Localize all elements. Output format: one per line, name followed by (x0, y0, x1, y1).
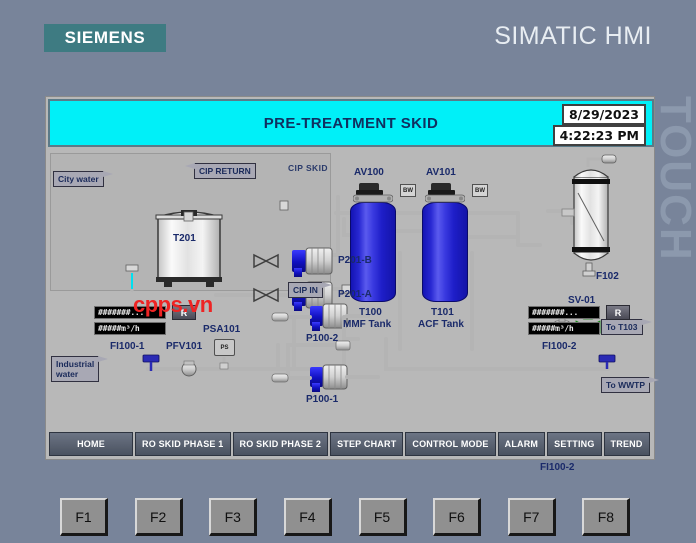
siemens-logo-text: SIEMENS (65, 28, 146, 48)
process-mimic: CIP SKID (48, 149, 654, 432)
function-key-f5[interactable]: F5 (359, 498, 407, 536)
function-key-row: F1 F2 F3 F4 F5 F6 F7 F8 (50, 496, 646, 539)
display-fi100-1-rate[interactable]: #####m³/h (94, 322, 166, 335)
nav-button-step-chart[interactable]: STEP CHART (330, 432, 403, 456)
page-title: PRE-TREATMENT SKID (264, 115, 438, 132)
label-tank-t101: T101 (431, 307, 454, 318)
nav-button-trend[interactable]: TREND (604, 432, 650, 456)
label-pump-p100-2: P100-2 (306, 333, 338, 344)
nav-button-setting[interactable]: SETTING (547, 432, 601, 456)
date-display: 8/29/2023 (562, 104, 646, 125)
label-tank-t201: T201 (173, 233, 196, 244)
tag-cip-return-label: CIP RETURN (199, 166, 251, 176)
time-display: 4:22:23 PM (553, 125, 646, 146)
touch-watermark: TOUCH (652, 96, 696, 296)
nav-button-control-mode[interactable]: CONTROL MODE (405, 432, 495, 456)
tag-to-t103-label: To T103 (606, 322, 638, 332)
valve-av100-shape[interactable] (353, 183, 393, 205)
hmi-screen: SIEMENS SIMATIC HMI TOUCH PRE-TREATMENT … (0, 0, 696, 543)
flow-fi100-2-shape (599, 355, 615, 369)
function-key-slot: F1 (50, 496, 124, 539)
tag-to-t103: To T103 (601, 319, 643, 335)
cpps-watermark: cpps.vn (133, 292, 213, 318)
function-key-slot: F7 (498, 496, 572, 539)
label-tank-t101-desc: ACF Tank (418, 319, 464, 330)
bw-indicator-av101[interactable]: BW (472, 184, 488, 197)
reset-label: R (615, 308, 622, 318)
function-key-f3[interactable]: F3 (209, 498, 257, 536)
label-valve-pfv101: PFV101 (166, 341, 202, 352)
tag-industrial-water-line2: water (56, 369, 78, 379)
tank-t101-vessel[interactable] (422, 202, 468, 302)
navigation-bar: HOME RO SKID PHASE 1 RO SKID PHASE 2 STE… (49, 432, 653, 456)
tag-city-water: City water (53, 171, 104, 187)
label-valve-av100: AV100 (354, 167, 384, 178)
label-pump-p201a: P201-A (338, 289, 372, 300)
tag-cip-in-label: CIP IN (293, 285, 318, 295)
pump-p100-1-shape (310, 365, 347, 392)
label-flow-fi100-2: FI100-2 (540, 462, 574, 473)
siemens-logo: SIEMENS (44, 24, 166, 52)
tag-cip-in: CIP IN (288, 282, 323, 298)
tag-industrial-water: Industrial water (51, 356, 99, 382)
tank-t201-shape (156, 210, 222, 287)
function-key-f7[interactable]: F7 (508, 498, 556, 536)
filter-f102-shape (562, 155, 616, 276)
nav-button-home[interactable]: HOME (49, 432, 133, 456)
label-flow-fi100-2b: FI100-2 (542, 341, 576, 352)
label-valve-sv01: SV-01 (568, 295, 595, 306)
valve-av101-shape[interactable] (425, 183, 465, 205)
nav-button-ro-skid-phase-1[interactable]: RO SKID PHASE 1 (135, 432, 231, 456)
function-key-f2[interactable]: F2 (135, 498, 183, 536)
tag-city-water-label: City water (58, 174, 99, 184)
simatic-hmi-title: SIMATIC HMI (494, 22, 652, 51)
function-key-f8[interactable]: F8 (582, 498, 630, 536)
bw-label: BW (475, 188, 485, 194)
tag-to-wwtp: To WWTP (601, 377, 650, 393)
label-filter-f102: F102 (596, 271, 619, 282)
tag-industrial-water-line1: Industrial (56, 359, 94, 369)
valve-pfv101-shape (182, 361, 196, 376)
function-key-slot: F5 (349, 496, 423, 539)
label-valve-av101: AV101 (426, 167, 456, 178)
nav-button-alarm[interactable]: ALARM (498, 432, 546, 456)
label-pump-p201b: P201-B (338, 255, 372, 266)
bw-label: BW (403, 188, 413, 194)
function-key-slot: F3 (199, 496, 273, 539)
label-switch-psa101: PSA101 (203, 324, 240, 335)
function-key-slot: F4 (274, 496, 348, 539)
function-key-slot: F6 (423, 496, 497, 539)
tag-to-wwtp-label: To WWTP (606, 380, 645, 390)
tank-t100-vessel[interactable] (350, 202, 396, 302)
nav-button-ro-skid-phase-2[interactable]: RO SKID PHASE 2 (233, 432, 329, 456)
tag-cip-return: CIP RETURN (194, 163, 256, 179)
function-key-slot: F8 (572, 496, 646, 539)
switch-psa101-icon[interactable]: PS (214, 339, 235, 356)
pump-p201b-shape (292, 248, 332, 277)
hmi-panel: PRE-TREATMENT SKID 8/29/2023 4:22:23 PM … (45, 96, 655, 460)
display-fi100-2-total[interactable]: #######... (528, 306, 600, 319)
label-pump-p100-1: P100-1 (306, 394, 338, 405)
function-key-f4[interactable]: F4 (284, 498, 332, 536)
label-tank-t100: T100 (359, 307, 382, 318)
display-fi100-2-rate[interactable]: #####m³/h (528, 322, 600, 335)
function-key-f6[interactable]: F6 (433, 498, 481, 536)
label-tank-t100-desc: MMF Tank (343, 319, 391, 330)
screen-title-bar: PRE-TREATMENT SKID 8/29/2023 4:22:23 PM (48, 99, 654, 147)
function-key-f1[interactable]: F1 (60, 498, 108, 536)
ps-label: PS (220, 345, 228, 351)
label-flow-fi100-1: FI100-1 (110, 341, 144, 352)
function-key-slot: F2 (125, 496, 199, 539)
pump-p100-2-shape (310, 304, 347, 331)
bw-indicator-av100[interactable]: BW (400, 184, 416, 197)
reset-button-fi100-2[interactable]: R (606, 305, 630, 320)
